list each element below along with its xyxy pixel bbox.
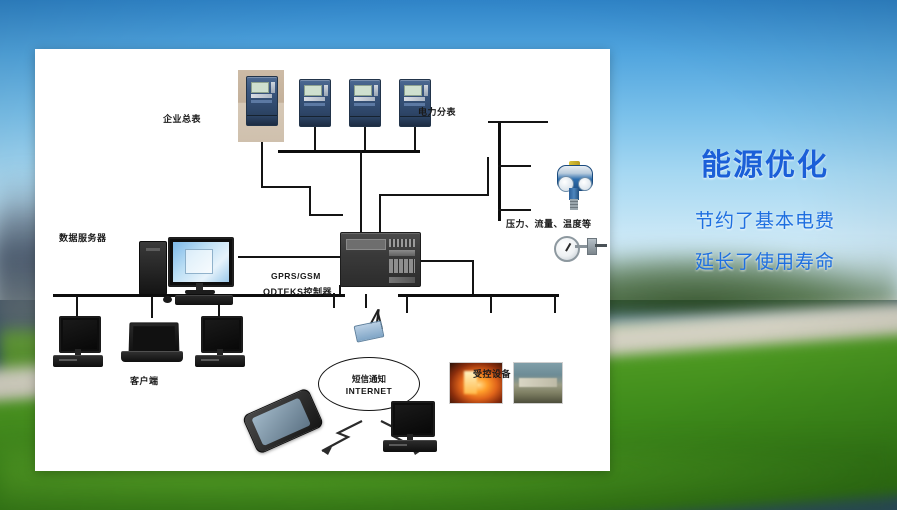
transmitter-cover-right [578, 177, 592, 191]
wire-sensor-spine [498, 121, 501, 221]
wire-gauge-branch [498, 209, 531, 211]
meter-nameplate [354, 97, 375, 101]
meter-terminal-cover [247, 115, 277, 125]
label-client-terminal: 客户端 [130, 374, 159, 387]
laptop-keyboard [121, 351, 183, 362]
wire-equipment-left-drop [406, 296, 408, 313]
meter-terminal-cover [350, 116, 380, 126]
client-desktop-left[interactable] [51, 316, 105, 374]
wire-equipment-bus [398, 294, 559, 297]
label-power-submeter: 电力分表 [418, 105, 456, 118]
server-screen [173, 242, 229, 282]
temperature-gauge[interactable] [554, 234, 608, 260]
gauge-tail [595, 244, 607, 247]
wire-controller-to-equipment [419, 260, 474, 262]
monitor-icon [59, 316, 101, 353]
server-keyboard [175, 295, 233, 305]
meter-screen [404, 85, 422, 96]
desktop-chassis [195, 355, 245, 367]
label-odteks-controller: ODTEKS控制器 [263, 285, 332, 298]
meter-nameplate [404, 97, 425, 101]
cloud-label-sms: 短信通知 [352, 373, 386, 385]
modem-body [354, 320, 385, 342]
wire-internet-drop [333, 293, 335, 308]
meter-buttons [271, 82, 275, 93]
wire-sensor-riser [487, 157, 489, 195]
cloud-label-internet: INTERNET [346, 386, 393, 396]
wire-transmitter-branch [498, 165, 531, 167]
meter-nameplate [304, 97, 325, 101]
laptop-screen [129, 322, 180, 354]
wire-equipment-right-drop [490, 296, 492, 313]
controlled-equipment-machine[interactable] [513, 362, 563, 404]
wire-submeter-bus-down [360, 150, 362, 183]
odteks-controller[interactable] [340, 232, 421, 287]
wire-main-meter-drop [261, 138, 263, 187]
controller-display [346, 239, 386, 250]
monitor-stand-neck [196, 283, 203, 290]
wire-submeter-3-drop [414, 125, 416, 151]
transmitter-process-connection [570, 199, 578, 210]
monitor-icon [201, 316, 243, 353]
slide-canvas: 能源优化 节约了基本电费 延长了使用寿命 [0, 0, 897, 510]
wire-client-left-drop [76, 296, 78, 318]
headline-benefit-2: 延长了使用寿命 [640, 247, 890, 274]
wire-main-meter-down [309, 186, 311, 216]
desktop-chassis [53, 355, 103, 367]
wire-equipment-riser [472, 260, 474, 296]
wire-gsm-drop [365, 294, 367, 308]
remote-desktop[interactable] [381, 401, 439, 459]
wire-controller-top-feed [360, 183, 362, 233]
monitor-icon [391, 401, 435, 437]
system-diagram-panel: 短信通知 INTERNET [35, 49, 610, 471]
label-controlled-equipment: 受控设备 [473, 367, 511, 380]
label-gprs-gsm: GPRS/GSM [271, 271, 321, 281]
client-desktop-right[interactable] [193, 316, 247, 374]
controller-label-strip [389, 250, 415, 256]
label-data-server: 数据服务器 [59, 231, 107, 244]
power-submeter-1[interactable] [299, 79, 331, 127]
meter-screen [251, 82, 269, 93]
desktop-chassis [383, 440, 437, 452]
remote-smartphone[interactable] [247, 394, 323, 452]
controller-indicator-lamps [389, 239, 415, 247]
wire-submeter-bus [278, 150, 420, 153]
monitor-stand-base [185, 290, 215, 294]
server-tower [139, 241, 167, 295]
server-monitor [168, 237, 234, 287]
meter-nameplate [251, 94, 272, 98]
meter-stripe [251, 100, 272, 103]
label-sensors: 压力、流量、温度等 [506, 217, 592, 230]
wire-main-meter-run [261, 186, 311, 188]
wire-main-to-bus [309, 214, 343, 216]
meter-buttons [324, 85, 328, 96]
gauge-dial-icon [554, 236, 580, 262]
pressure-transmitter[interactable] [556, 161, 592, 213]
phone-body [242, 387, 325, 455]
meter-terminal-cover [300, 116, 330, 126]
wire-submeter-2-drop [364, 125, 366, 151]
meter-stripe [304, 103, 325, 106]
wire-equipment-far-drop [554, 296, 556, 313]
meter-buttons [374, 85, 378, 96]
wire-controller-top-feed-2 [379, 195, 381, 233]
meter-stripe [354, 103, 375, 106]
wire-sensor-top-run [379, 194, 489, 196]
enterprise-main-meter[interactable] [238, 70, 284, 142]
meter-screen [354, 85, 372, 96]
gprs-gsm-modem[interactable] [353, 307, 395, 341]
headline-title: 能源优化 [640, 140, 890, 184]
meter-screen [304, 85, 322, 96]
phone-screen [251, 398, 311, 447]
label-enterprise-main-meter: 企业总表 [163, 112, 201, 125]
meter-buttons [424, 85, 428, 96]
data-server[interactable] [135, 235, 240, 307]
client-laptop[interactable] [121, 322, 183, 368]
power-submeter-2[interactable] [349, 79, 381, 127]
server-mouse [163, 296, 172, 303]
wire-server-to-controller [238, 256, 341, 258]
wire-submeter-1-drop [314, 125, 316, 151]
controller-terminal-block [389, 277, 415, 283]
power-submeter-3[interactable] [399, 79, 431, 127]
headline-block: 能源优化 节约了基本电费 延长了使用寿命 [640, 140, 890, 274]
wire-sensor-top-bar [488, 121, 548, 123]
controller-keypad[interactable] [389, 259, 415, 273]
meter-body [246, 76, 278, 126]
headline-benefit-1: 节约了基本电费 [640, 206, 890, 233]
